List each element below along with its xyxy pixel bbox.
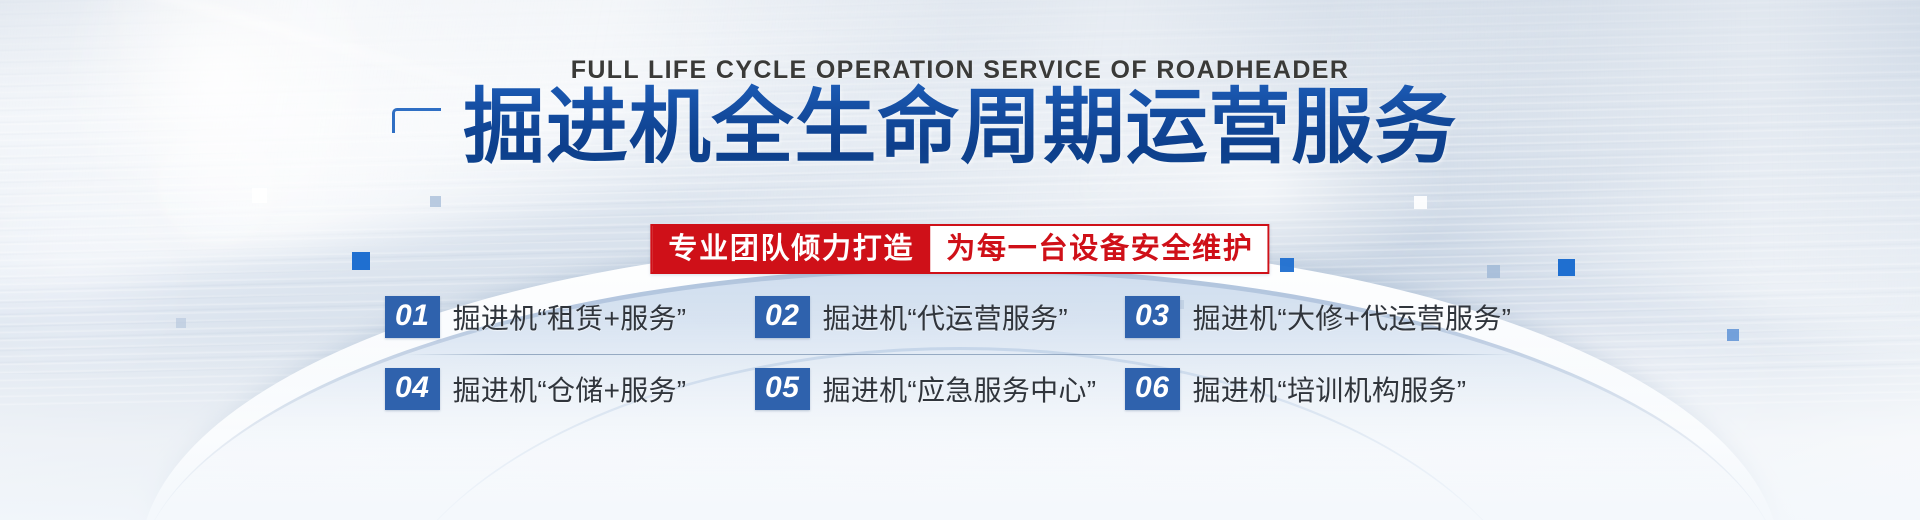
service-item-number: 05 <box>755 368 810 410</box>
service-list-row-2: 04掘进机“仓储+服务”05掘进机“应急服务中心”06掘进机“培训机构服务” <box>385 368 1535 426</box>
service-item-number: 03 <box>1125 296 1180 338</box>
service-item-label: 掘进机“应急服务中心” <box>823 369 1097 409</box>
service-item-label: 掘进机“仓储+服务” <box>453 369 687 409</box>
service-item-label: 掘进机“大修+代运营服务” <box>1193 297 1512 337</box>
service-list-row-1: 01掘进机“租赁+服务”02掘进机“代运营服务”03掘进机“大修+代运营服务” <box>385 296 1535 354</box>
service-item[interactable]: 03掘进机“大修+代运营服务” <box>1125 296 1511 338</box>
service-item[interactable]: 06掘进机“培训机构服务” <box>1125 368 1466 410</box>
service-item-number: 01 <box>385 296 440 338</box>
slogan-ribbon-left: 专业团队倾力打造 <box>652 226 930 272</box>
service-item-number: 04 <box>385 368 440 410</box>
service-list-divider-wrap <box>385 354 1535 355</box>
service-item-label: 掘进机“培训机构服务” <box>1193 369 1467 409</box>
service-item-number: 02 <box>755 296 810 338</box>
service-item[interactable]: 05掘进机“应急服务中心” <box>755 368 1096 410</box>
banner-content: FULL LIFE CYCLE OPERATION SERVICE OF ROA… <box>0 0 1920 520</box>
service-item[interactable]: 04掘进机“仓储+服务” <box>385 368 686 410</box>
hero-banner: FULL LIFE CYCLE OPERATION SERVICE OF ROA… <box>0 0 1920 520</box>
service-item-label: 掘进机“代运营服务” <box>823 297 1068 337</box>
banner-eyebrow-english: FULL LIFE CYCLE OPERATION SERVICE OF ROA… <box>0 56 1920 85</box>
service-item[interactable]: 01掘进机“租赁+服务” <box>385 296 686 338</box>
service-item[interactable]: 02掘进机“代运营服务” <box>755 296 1068 338</box>
slogan-ribbon: 专业团队倾力打造 为每一台设备安全维护 <box>650 224 1269 274</box>
service-item-label: 掘进机“租赁+服务” <box>453 297 687 337</box>
service-list-divider <box>405 354 1515 355</box>
banner-headline: 掘进机全生命周期运营服务 <box>0 82 1920 174</box>
slogan-ribbon-right: 为每一台设备安全维护 <box>930 226 1267 272</box>
service-item-number: 06 <box>1125 368 1180 410</box>
